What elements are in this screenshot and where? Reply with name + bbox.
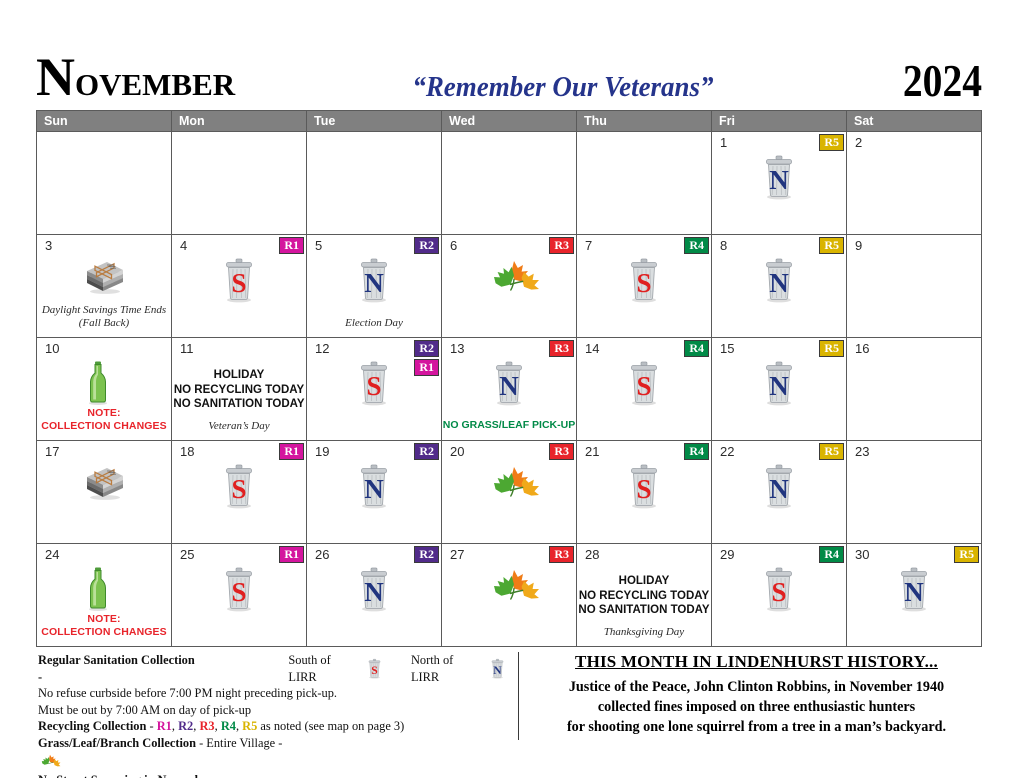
trash-can-south-icon: S: [172, 257, 306, 305]
recycling-badge-r4: R4: [684, 340, 709, 357]
calendar-week-row: 24NOTE:COLLECTION CHANGES25R1S26R2N27R32…: [37, 544, 982, 647]
recycling-badge-group: R5: [819, 443, 844, 460]
legend-outby-line: Must be out by 7:00 AM on day of pick-up: [38, 702, 506, 719]
collection-legend: Regular Sanitation Collection - South of…: [36, 652, 506, 752]
recycling-badge-r5: R5: [954, 546, 979, 563]
footer: Regular Sanitation Collection - South of…: [36, 652, 982, 752]
legend-recycling-row: Recycling Collection - R1, R2, R3, R4, R…: [38, 718, 506, 735]
recycling-badge-r5: R5: [819, 237, 844, 254]
day-number: 25: [180, 548, 194, 561]
month-rest: ovember: [75, 56, 235, 105]
calendar-day-cell-5[interactable]: 5R2NElection Day: [307, 235, 442, 338]
recycling-badge-group: R2R1: [414, 340, 439, 376]
calendar-day-cell-26[interactable]: 26R2N: [307, 544, 442, 647]
calendar-day-cell-2[interactable]: 2: [847, 132, 982, 235]
recycling-badge-group: R3: [549, 443, 574, 460]
svg-text:N: N: [364, 474, 384, 504]
recycling-badge-group: R3: [549, 546, 574, 563]
calendar-day-cell-4[interactable]: 4R1S: [172, 235, 307, 338]
day-event-label: Veteran’s Day: [172, 420, 306, 434]
year-label: 2024: [903, 58, 982, 104]
calendar-day-cell-19[interactable]: 19R2N: [307, 441, 442, 544]
day-number: 1: [720, 136, 727, 149]
day-number: 29: [720, 548, 734, 561]
recycling-badge-r1: R1: [414, 359, 439, 376]
day-number: 11: [180, 342, 194, 355]
calendar-day-cell-18[interactable]: 18R1S: [172, 441, 307, 544]
maple-leaves-icon: [38, 752, 506, 772]
calendar-day-cell-empty: [172, 132, 307, 235]
svg-text:N: N: [769, 474, 789, 504]
glass-bottle-icon: [37, 360, 171, 408]
recycling-badge-r2: R2: [414, 237, 439, 254]
svg-text:S: S: [636, 268, 651, 298]
day-number: 6: [450, 239, 457, 252]
recycling-badge-group: R5: [954, 546, 979, 563]
trash-can-north-icon: N: [442, 360, 576, 408]
weekday-header-sat: Sat: [847, 111, 982, 132]
calendar-day-cell-empty: [577, 132, 712, 235]
day-number: 16: [855, 342, 869, 355]
recycling-badge-r4: R4: [819, 546, 844, 563]
recycling-badge-r4: R4: [684, 237, 709, 254]
month-initial: N: [36, 47, 75, 107]
calendar-day-cell-10[interactable]: 10NOTE:COLLECTION CHANGES: [37, 338, 172, 441]
holiday-notice: HOLIDAYNO RECYCLING TODAYNO SANITATION T…: [577, 574, 711, 618]
calendar-day-cell-6[interactable]: 6R3: [442, 235, 577, 338]
recycling-badge-r2: R2: [414, 340, 439, 357]
headline-quote: “Remember Our Veterans”: [412, 73, 713, 104]
recycling-badge-group: R5: [819, 340, 844, 357]
day-number: 12: [315, 342, 329, 355]
recycling-badge-r5: R5: [819, 340, 844, 357]
legend-code-r5: R5: [242, 719, 257, 733]
recycling-badge-group: R2: [414, 546, 439, 563]
legend-recycling-tail: as noted (see map on page 3): [257, 719, 404, 733]
recycling-badge-group: R1: [279, 546, 304, 563]
day-number: 18: [180, 445, 194, 458]
recycling-badge-r1: R1: [279, 546, 304, 563]
holiday-notice: HOLIDAYNO RECYCLING TODAYNO SANITATION T…: [172, 368, 306, 412]
recycling-badge-group: R5: [819, 134, 844, 151]
svg-text:S: S: [231, 268, 246, 298]
calendar-grid: Sun Mon Tue Wed Thu Fri Sat 1R5N23Daylig…: [36, 110, 982, 647]
history-section: THIS MONTH IN LINDENHURST HISTORY... Jus…: [531, 652, 982, 752]
recycling-badge-group: R3: [549, 340, 574, 357]
calendar-day-cell-28[interactable]: 28HOLIDAYNO RECYCLING TODAYNO SANITATION…: [577, 544, 712, 647]
calendar-week-row: 1718R1S19R2N20R321R4S22R5N23: [37, 441, 982, 544]
legend-recycling-dash: -: [146, 719, 156, 733]
day-event-label: Daylight Savings Time Ends(Fall Back): [37, 304, 171, 332]
day-number: 4: [180, 239, 187, 252]
footer-divider: [518, 652, 519, 740]
trash-can-south-icon: S: [172, 566, 306, 614]
trash-can-north-icon: N: [712, 257, 846, 305]
maple-leaves-icon: [442, 257, 576, 305]
legend-code-r1: R1: [157, 719, 172, 733]
svg-text:S: S: [372, 664, 378, 677]
trash-can-north-icon: N: [847, 566, 981, 614]
calendar-day-cell-1[interactable]: 1R5N: [712, 132, 847, 235]
recycling-badge-r2: R2: [414, 443, 439, 460]
weekday-header-row: Sun Mon Tue Wed Thu Fri Sat: [37, 111, 982, 132]
calendar-day-cell-15[interactable]: 15R5N: [712, 338, 847, 441]
calendar-week-row: 10NOTE:COLLECTION CHANGES11HOLIDAYNO REC…: [37, 338, 982, 441]
recycling-badge-r1: R1: [279, 443, 304, 460]
svg-text:N: N: [364, 268, 384, 298]
calendar-day-cell-20[interactable]: 20R3: [442, 441, 577, 544]
weekday-header-fri: Fri: [712, 111, 847, 132]
collection-change-note: NOTE:COLLECTION CHANGES: [37, 613, 171, 639]
day-number: 26: [315, 548, 329, 561]
legend-grass-label: Grass/Leaf/Branch Collection: [38, 736, 196, 750]
recycling-badge-group: R1: [279, 237, 304, 254]
legend-south-label: South of LIRR: [288, 652, 360, 685]
calendar-day-cell-3[interactable]: 3Daylight Savings Time Ends(Fall Back): [37, 235, 172, 338]
day-number: 9: [855, 239, 862, 252]
calendar-day-cell-empty: [442, 132, 577, 235]
recycling-badge-group: R2: [414, 237, 439, 254]
svg-text:S: S: [366, 371, 381, 401]
day-number: 24: [45, 548, 59, 561]
day-number: 30: [855, 548, 869, 561]
maple-leaves-icon: [442, 566, 576, 614]
calendar-day-cell-8[interactable]: 8R5N: [712, 235, 847, 338]
legend-code-r3: R3: [199, 719, 214, 733]
recycling-badge-group: R4: [684, 443, 709, 460]
newspaper-bundle-icon: [37, 257, 171, 305]
recycling-badge-group: R4: [684, 237, 709, 254]
day-number: 3: [45, 239, 52, 252]
calendar-day-cell-22[interactable]: 22R5N: [712, 441, 847, 544]
trash-can-south-icon: S: [577, 463, 711, 511]
calendar-day-cell-empty: [307, 132, 442, 235]
svg-text:N: N: [493, 664, 502, 677]
calendar-week-row: 3Daylight Savings Time Ends(Fall Back)4R…: [37, 235, 982, 338]
day-number: 20: [450, 445, 464, 458]
day-number: 19: [315, 445, 329, 458]
recycling-badge-group: R4: [819, 546, 844, 563]
legend-grass-row: Grass/Leaf/Branch Collection - Entire Vi…: [38, 735, 506, 772]
weekday-header-mon: Mon: [172, 111, 307, 132]
recycling-badge-r5: R5: [819, 443, 844, 460]
svg-text:N: N: [769, 268, 789, 298]
day-number: 5: [315, 239, 322, 252]
collection-change-note: NOTE:COLLECTION CHANGES: [37, 407, 171, 433]
day-event-label: Election Day: [307, 317, 441, 331]
svg-text:N: N: [769, 165, 789, 195]
weekday-header-tue: Tue: [307, 111, 442, 132]
calendar-day-cell-13[interactable]: 13R3NNO GRASS/LEAF PICK-UP: [442, 338, 577, 441]
recycling-badge-group: R3: [549, 237, 574, 254]
legend-code-r2: R2: [178, 719, 193, 733]
trash-can-north-icon: N: [307, 257, 441, 305]
day-number: 10: [45, 342, 59, 355]
svg-text:S: S: [231, 474, 246, 504]
calendar-day-cell-25[interactable]: 25R1S: [172, 544, 307, 647]
svg-text:N: N: [499, 371, 519, 401]
maple-leaves-icon: [442, 463, 576, 511]
svg-text:N: N: [769, 371, 789, 401]
trash-can-north-icon: N: [307, 463, 441, 511]
day-number: 14: [585, 342, 599, 355]
day-number: 28: [585, 548, 599, 561]
calendar-day-cell-16[interactable]: 16: [847, 338, 982, 441]
calendar-body: 1R5N23Daylight Savings Time Ends(Fall Ba…: [37, 132, 982, 647]
recycling-badge-r5: R5: [819, 134, 844, 151]
day-event-label: Thanksgiving Day: [577, 626, 711, 640]
trash-can-south-icon: S: [577, 257, 711, 305]
calendar-day-cell-30[interactable]: 30R5N: [847, 544, 982, 647]
svg-text:S: S: [636, 371, 651, 401]
calendar-day-cell-14[interactable]: 14R4S: [577, 338, 712, 441]
trash-can-south-icon: S: [172, 463, 306, 511]
weekday-header-wed: Wed: [442, 111, 577, 132]
recycling-badge-group: R4: [684, 340, 709, 357]
day-number: 21: [585, 445, 599, 458]
trash-can-south-icon: S: [577, 360, 711, 408]
calendar-day-cell-empty: [37, 132, 172, 235]
day-number: 17: [45, 445, 59, 458]
day-number: 8: [720, 239, 727, 252]
weekday-header-thu: Thu: [577, 111, 712, 132]
history-line-2: collected fines imposed on three enthusi…: [531, 697, 982, 717]
trash-can-south-icon: S: [712, 566, 846, 614]
trash-can-north-icon: N: [712, 154, 846, 202]
day-number: 13: [450, 342, 464, 355]
history-line-3: for shooting one lone squirrel from a tr…: [531, 717, 982, 737]
recycling-badge-group: R2: [414, 443, 439, 460]
calendar-day-cell-23[interactable]: 23: [847, 441, 982, 544]
calendar-day-cell-12[interactable]: 12R2R1S: [307, 338, 442, 441]
calendar-day-cell-21[interactable]: 21R4S: [577, 441, 712, 544]
history-line-1: Justice of the Peace, John Clinton Robbi…: [531, 677, 982, 697]
trash-can-north-icon: N: [307, 566, 441, 614]
history-title: THIS MONTH IN LINDENHURST HISTORY...: [531, 652, 982, 672]
svg-text:N: N: [364, 577, 384, 607]
calendar-day-cell-11[interactable]: 11HOLIDAYNO RECYCLING TODAYNO SANITATION…: [172, 338, 307, 441]
recycling-badge-group: R1: [279, 443, 304, 460]
recycling-badge-r2: R2: [414, 546, 439, 563]
day-number: 2: [855, 136, 862, 149]
recycling-badge-r3: R3: [549, 546, 574, 563]
day-number: 22: [720, 445, 734, 458]
recycling-badge-group: R5: [819, 237, 844, 254]
glass-bottle-icon: [37, 566, 171, 614]
day-number: 7: [585, 239, 592, 252]
day-number: 15: [720, 342, 734, 355]
page-title: November: [36, 50, 235, 104]
legend-north-label: North of LIRR: [411, 652, 483, 685]
calendar-day-cell-17[interactable]: 17: [37, 441, 172, 544]
calendar-day-cell-27[interactable]: 27R3: [442, 544, 577, 647]
trash-can-north-icon: N: [489, 658, 506, 679]
svg-text:N: N: [904, 577, 924, 607]
legend-sanitation-row: Regular Sanitation Collection - South of…: [38, 652, 506, 685]
trash-can-north-icon: N: [712, 463, 846, 511]
calendar-day-cell-24[interactable]: 24NOTE:COLLECTION CHANGES: [37, 544, 172, 647]
recycling-badge-r3: R3: [549, 340, 574, 357]
recycling-badge-r3: R3: [549, 443, 574, 460]
calendar-day-cell-7[interactable]: 7R4S: [577, 235, 712, 338]
svg-text:S: S: [771, 577, 786, 607]
legend-sweeping-line: No Street Sweeping in November: [38, 773, 213, 778]
recycling-badge-r3: R3: [549, 237, 574, 254]
legend-grass-tail: - Entire Village -: [196, 736, 282, 750]
calendar-page: November “Remember Our Veterans” 2024 Su…: [0, 0, 1019, 778]
svg-text:S: S: [636, 474, 651, 504]
day-number: 27: [450, 548, 464, 561]
legend-code-r4: R4: [221, 719, 236, 733]
calendar-day-cell-29[interactable]: 29R4S: [712, 544, 847, 647]
legend-recycling-label: Recycling Collection: [38, 719, 146, 733]
newspaper-bundle-icon: [37, 463, 171, 511]
masthead: November “Remember Our Veterans” 2024: [36, 46, 982, 104]
no-grass-leaf-note: NO GRASS/LEAF PICK-UP: [442, 419, 576, 431]
legend-sanitation-label: Regular Sanitation Collection -: [38, 652, 198, 685]
weekday-header-sun: Sun: [37, 111, 172, 132]
recycling-badge-r1: R1: [279, 237, 304, 254]
recycling-badge-r4: R4: [684, 443, 709, 460]
calendar-day-cell-9[interactable]: 9: [847, 235, 982, 338]
legend-curbside-line: No refuse curbside before 7:00 PM night …: [38, 685, 506, 702]
trash-can-north-icon: N: [712, 360, 846, 408]
calendar-week-row: 1R5N2: [37, 132, 982, 235]
day-number: 23: [855, 445, 869, 458]
trash-can-south-icon: S: [366, 658, 383, 679]
svg-text:S: S: [231, 577, 246, 607]
